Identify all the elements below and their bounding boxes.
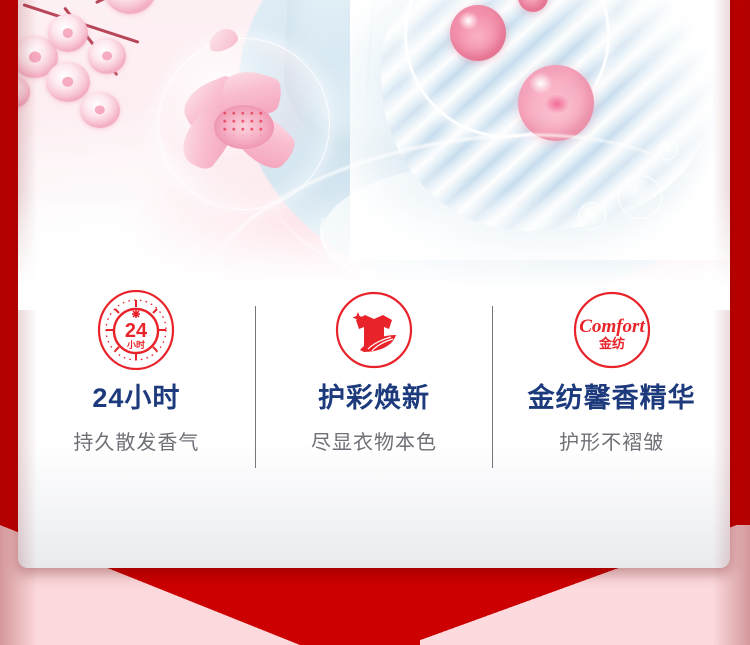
- feature-title: 护彩焕新: [318, 384, 430, 414]
- clock-24-hour-icon: 24 小时: [96, 290, 176, 370]
- comfort-wordmark: Comfort: [579, 316, 645, 337]
- content-card: 24 小时 24小时 持久散发香气: [18, 0, 730, 568]
- feature-row: 24 小时 24小时 持久散发香气: [18, 290, 730, 500]
- blossom-flower-5: [104, 0, 156, 14]
- product-detail-page: 24 小时 24小时 持久散发香气: [0, 0, 750, 645]
- falling-petal-1: [205, 25, 240, 54]
- blossom-flower-7: [80, 92, 120, 128]
- blossom-flower-8: [18, 76, 30, 108]
- comfort-brand-logo-icon: Comfort 金纺: [572, 290, 652, 370]
- pink-bubble-large: [450, 5, 506, 61]
- feature-title: 金纺馨香精华: [528, 384, 696, 414]
- clock-icon-hours-value: 24: [125, 320, 148, 342]
- feature-title: 24小时: [92, 384, 180, 414]
- cherry-blossom-branch: [18, 0, 246, 159]
- feature-subtitle: 持久散发香气: [73, 426, 199, 455]
- clock-icon-unit-label: 小时: [126, 339, 145, 350]
- jinfang-wordmark: 金纺: [598, 336, 625, 351]
- blossom-flower-4: [88, 38, 126, 74]
- feature-item-24h: 24 小时 24小时 持久散发香气: [18, 290, 255, 455]
- hero-image: [18, 0, 730, 310]
- feature-item-color-care: 护彩焕新 尽显衣物本色: [256, 290, 493, 455]
- tshirt-sparkle-feather-icon: [334, 290, 414, 370]
- feature-item-brand-essence: Comfort 金纺 金纺馨香精华 护形不褶皱: [493, 290, 730, 455]
- blossom-flower-3: [46, 62, 90, 102]
- blossom-flower-2: [48, 14, 88, 52]
- feature-subtitle: 护形不褶皱: [559, 426, 664, 455]
- feature-subtitle: 尽显衣物本色: [311, 426, 437, 455]
